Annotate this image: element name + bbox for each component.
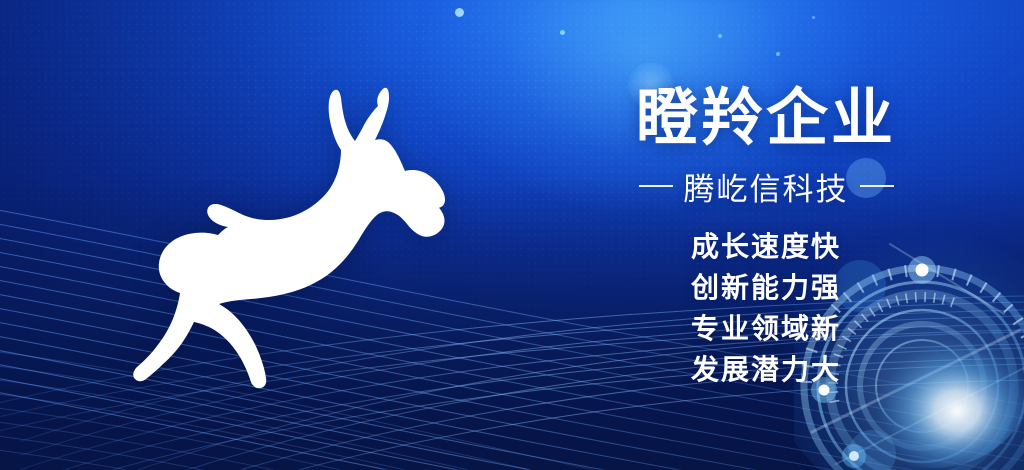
page-title: 瞪羚企业 xyxy=(562,86,970,152)
feature-list: 成长速度快 创新能力强 专业领域新 发展潜力大 xyxy=(562,233,970,384)
bokeh-dot-upper-right xyxy=(560,30,565,35)
subtitle-rule-right xyxy=(860,185,894,187)
company-subtitle: 腾屹信科技 xyxy=(684,164,849,209)
list-item: 专业领域新 xyxy=(562,315,970,343)
subtitle-rule-left xyxy=(639,185,673,187)
list-item: 成长速度快 xyxy=(562,233,970,261)
gazelle-icon xyxy=(78,70,478,400)
gazelle-enterprise-banner: 瞪羚企业 腾屹信科技 成长速度快 创新能力强 专业领域新 发展潜力大 xyxy=(0,0,1024,470)
bokeh-dot-left-edge xyxy=(812,16,815,19)
subtitle-row: 腾屹信科技 xyxy=(562,164,970,209)
bokeh-dot-right xyxy=(776,52,780,56)
list-item: 发展潜力大 xyxy=(562,356,970,384)
bokeh-circle-small-top xyxy=(455,8,464,17)
banner-copy: 瞪羚企业 腾屹信科技 成长速度快 创新能力强 专业领域新 发展潜力大 xyxy=(562,86,970,384)
bokeh-dot-mid xyxy=(718,34,722,38)
list-item: 创新能力强 xyxy=(562,274,970,302)
